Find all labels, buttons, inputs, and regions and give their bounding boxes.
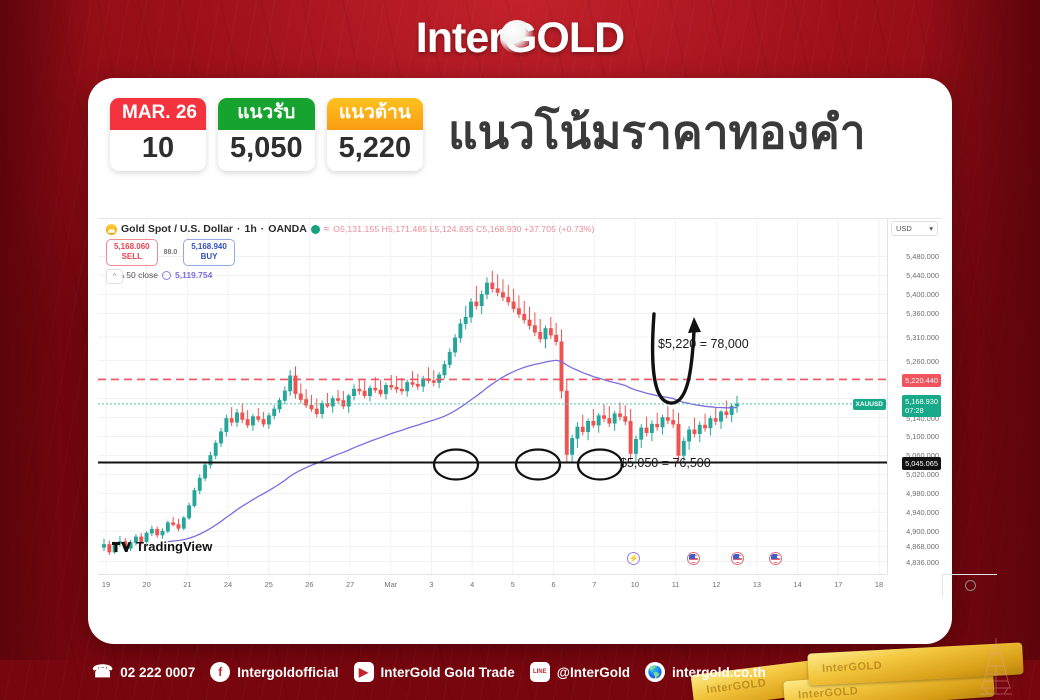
time-tick: 24 xyxy=(224,580,232,589)
time-tick: 6 xyxy=(551,580,555,589)
tradingview-logo-icon xyxy=(112,541,131,553)
price-tick: 5,020.000 xyxy=(906,470,939,479)
buy-price: 5,168.940 xyxy=(191,242,227,252)
ema-value: 5,119.754 xyxy=(175,270,212,280)
visibility-icon[interactable] xyxy=(311,225,320,234)
last-price-label: 5,168.930 07:28 xyxy=(902,395,941,418)
symbol-sep-1: · xyxy=(237,223,241,235)
ohlc-values: O5,131.155 H5,171.485 L5,124.835 C5,168.… xyxy=(333,224,594,234)
price-tick: 5,100.000 xyxy=(906,432,939,441)
time-tick: 26 xyxy=(305,580,313,589)
symbol-interval[interactable]: 1h xyxy=(245,223,257,235)
footer-item-website[interactable]: 🌎 intergold.co.th xyxy=(645,662,766,682)
symbol-exchange[interactable]: OANDA xyxy=(268,223,307,235)
badge-date-label: MAR. 26 xyxy=(110,98,206,130)
footer-bar: ☎ 02 222 0007 f Intergoldofficial ▶ Inte… xyxy=(0,644,1040,700)
price-tick: 5,310.000 xyxy=(906,333,939,342)
spread-value: 88.0 xyxy=(164,249,178,256)
collapse-pane-button[interactable]: ^ xyxy=(106,269,123,284)
price-tick: 5,480.000 xyxy=(906,252,939,261)
price-tick: 4,836.000 xyxy=(906,558,939,567)
price-tick: 4,980.000 xyxy=(906,489,939,498)
time-tick: 27 xyxy=(346,580,354,589)
event-bolt-icon[interactable]: ⚡ xyxy=(627,552,640,565)
page-title: แนวโน้มราคาทองคำ xyxy=(448,104,948,162)
time-tick: 7 xyxy=(592,580,596,589)
badge-date: MAR. 26 10 xyxy=(110,98,206,171)
time-tick: 19 xyxy=(102,580,110,589)
price-tick: 5,360.000 xyxy=(906,309,939,318)
time-tick: 12 xyxy=(712,580,720,589)
footer-youtube-label: InterGold Gold Trade xyxy=(381,665,515,680)
price-tick: 4,940.000 xyxy=(906,508,939,517)
time-tick: 5 xyxy=(511,580,515,589)
event-us-flag-icon-1[interactable] xyxy=(687,552,700,565)
resistance-annotation: $5,220 = 78,000 xyxy=(658,337,749,351)
time-tick: 25 xyxy=(265,580,273,589)
badge-date-value: 10 xyxy=(110,130,206,171)
logo-suffix: GOLD xyxy=(504,14,624,63)
last-price-value: 5,168.930 xyxy=(905,397,938,406)
last-price-time: 07:28 xyxy=(905,406,938,415)
trading-chart[interactable]: Gold Spot / U.S. Dollar · 1h · OANDA ≈ O… xyxy=(98,218,942,596)
chevron-down-icon: ▾ xyxy=(929,224,933,233)
sell-price: 5,168.060 xyxy=(114,242,150,252)
time-axis[interactable]: 19202124252627Mar3456710111213141718 xyxy=(98,574,887,596)
line-icon: LINE xyxy=(530,662,550,682)
price-tick: 4,868.000 xyxy=(906,542,939,551)
footer-item-line[interactable]: LINE @InterGold xyxy=(530,662,630,682)
phone-icon: ☎ xyxy=(92,662,113,682)
gold-symbol-icon xyxy=(106,224,117,235)
currency-value: USD xyxy=(896,224,912,233)
event-us-flag-icon-3[interactable] xyxy=(769,552,782,565)
footer-item-youtube[interactable]: ▶ InterGold Gold Trade xyxy=(354,662,515,682)
support-price-label: 5,045.065 xyxy=(902,457,941,470)
refresh-icon[interactable] xyxy=(162,271,171,280)
price-tick: 5,400.000 xyxy=(906,290,939,299)
footer-phone-label: 02 222 0007 xyxy=(120,665,195,680)
footer-item-phone[interactable]: ☎ 02 222 0007 xyxy=(92,662,195,682)
footer-line-label: @InterGold xyxy=(557,665,630,680)
resistance-price-label: 5,220.440 xyxy=(902,374,941,387)
youtube-icon: ▶ xyxy=(354,662,374,682)
time-tick: 11 xyxy=(672,580,680,589)
time-tick: 17 xyxy=(834,580,842,589)
price-axis[interactable]: USD ▾ 5,480.0005,440.0005,400.0005,360.0… xyxy=(887,219,942,574)
time-tick: 4 xyxy=(470,580,474,589)
sell-label: SELL xyxy=(114,252,150,262)
badge-support-value: 5,050 xyxy=(218,130,315,171)
background-shade-left xyxy=(0,0,90,660)
economic-events: ⚡ xyxy=(98,552,887,568)
chart-settings-button[interactable] xyxy=(942,574,997,596)
xauusd-tag: XAUUSD xyxy=(853,399,886,410)
brand-logo: InterGOLD xyxy=(0,14,1040,63)
time-tick: 13 xyxy=(753,580,761,589)
globe-icon: 🌎 xyxy=(645,662,665,682)
buy-button[interactable]: 5,168.940 BUY xyxy=(183,239,235,266)
badges-row: MAR. 26 10 แนวรับ 5,050 แนวต้าน 5,220 xyxy=(110,98,423,171)
currency-select[interactable]: USD ▾ xyxy=(891,221,938,236)
price-tick: 4,900.000 xyxy=(906,527,939,536)
time-tick: 14 xyxy=(794,580,802,589)
badge-support-label: แนวรับ xyxy=(218,98,315,130)
time-tick: 10 xyxy=(631,580,639,589)
badge-resistance-label: แนวต้าน xyxy=(327,98,424,130)
content-card: MAR. 26 10 แนวรับ 5,050 แนวต้าน 5,220 แน… xyxy=(88,78,952,644)
settings-icon[interactable]: ≈ xyxy=(324,224,330,235)
support-annotation: $5,050 = 76,500 xyxy=(620,456,711,470)
time-tick: 3 xyxy=(429,580,433,589)
time-tick: 20 xyxy=(143,580,151,589)
badge-support: แนวรับ 5,050 xyxy=(218,98,315,171)
time-tick: Mar xyxy=(384,580,397,589)
footer-facebook-label: Intergoldofficial xyxy=(237,665,338,680)
buy-label: BUY xyxy=(191,252,227,262)
gear-icon xyxy=(965,580,976,591)
badge-resistance-value: 5,220 xyxy=(327,130,424,171)
time-tick: 21 xyxy=(183,580,191,589)
chart-legend: Gold Spot / U.S. Dollar · 1h · OANDA ≈ O… xyxy=(106,223,594,280)
footer-website-label: intergold.co.th xyxy=(672,665,766,680)
price-tick: 5,440.000 xyxy=(906,271,939,280)
sell-button[interactable]: 5,168.060 SELL xyxy=(106,239,158,266)
logo-prefix: Inter xyxy=(416,14,504,62)
event-us-flag-icon-2[interactable] xyxy=(731,552,744,565)
symbol-name[interactable]: Gold Spot / U.S. Dollar xyxy=(121,223,233,235)
badge-resistance: แนวต้าน 5,220 xyxy=(327,98,424,171)
time-tick: 18 xyxy=(875,580,883,589)
symbol-sep-2: · xyxy=(261,223,265,235)
footer-item-facebook[interactable]: f Intergoldofficial xyxy=(210,662,338,682)
facebook-icon: f xyxy=(210,662,230,682)
price-tick: 5,260.000 xyxy=(906,357,939,366)
